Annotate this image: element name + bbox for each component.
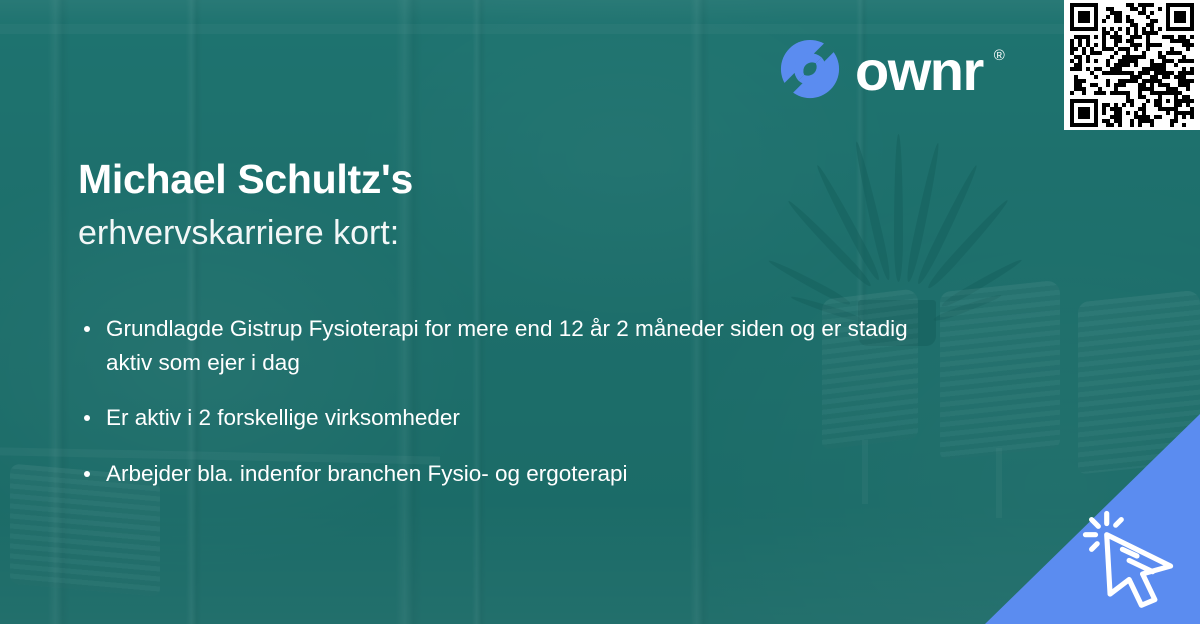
ownr-logo[interactable]: ownr ®	[779, 38, 1005, 100]
page-title: Michael Schultz's erhvervskarriere kort:	[78, 155, 798, 254]
career-facts-list: Grundlagde Gistrup Fysioterapi for mere …	[80, 312, 910, 512]
registered-trademark-symbol: ®	[994, 47, 1005, 64]
qr-code-panel[interactable]	[1064, 0, 1200, 130]
list-item: Er aktiv i 2 forskellige virksomheder	[80, 401, 910, 435]
subtitle: erhvervskarriere kort:	[78, 213, 798, 254]
ownr-wordmark: ownr	[855, 43, 983, 99]
ownr-circle-swoosh-icon	[779, 38, 841, 100]
qr-code-icon	[1070, 3, 1194, 127]
business-profile-card: ownr ® Michael Schultz's erhvervskarrier…	[0, 0, 1200, 624]
list-item: Grundlagde Gistrup Fysioterapi for mere …	[80, 312, 910, 380]
click-cursor-icon	[1072, 500, 1184, 612]
person-name: Michael Schultz's	[78, 155, 798, 203]
list-item: Arbejder bla. indenfor branchen Fysio- o…	[80, 457, 910, 491]
